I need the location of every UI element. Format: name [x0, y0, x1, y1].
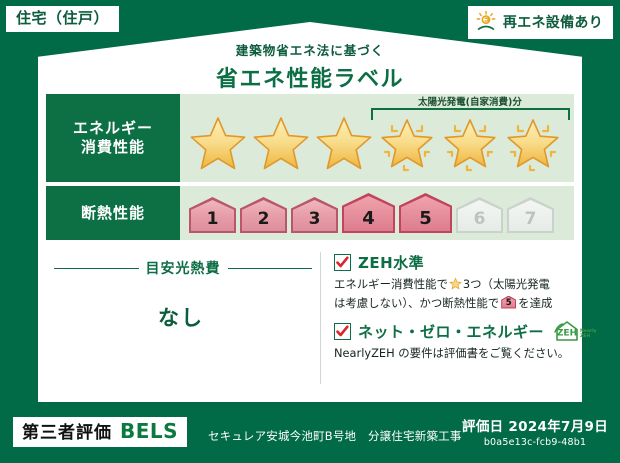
insulation-level-6: 6: [456, 197, 503, 233]
energy-label-root: 住宅（住戸） 再エネ設備あり 建築物省エネ法に基づく 省エネ性能ラベル: [0, 0, 620, 463]
star-icon-1: [187, 112, 249, 174]
zeh-house-logo-icon: ZEH Nearly ZEH: [554, 320, 600, 342]
bels-third-party-tag: 第三者評価 BELS: [13, 417, 187, 447]
energy-label-line2: 消費性能: [81, 138, 145, 157]
zeh-desc-part2: 3つ（太陽光発電: [463, 277, 550, 291]
renewable-badge-label: 再エネ設備あり: [503, 16, 603, 30]
net-zero-energy-description: NearlyZEH の要件は評価書をご覧ください。: [334, 345, 574, 362]
utility-cost-value: なし: [46, 302, 316, 332]
star-icon-2: [250, 112, 312, 174]
net-zero-energy-checkbox[interactable]: [334, 323, 351, 340]
evaluation-id: b0a5e13c-fcb9-48b1: [462, 437, 608, 448]
zeh-standard-header: ZEH水準: [334, 252, 574, 273]
sun-icon: [475, 10, 497, 35]
star-icon-4-solar: [376, 112, 438, 174]
zeh-desc-part3: は考慮しない）、かつ断熱性能で: [334, 296, 499, 310]
zeh-criteria-column: ZEH水準 エネルギー消費性能で 3つ（太陽光発電は考慮しない）、かつ断熱性能で…: [334, 252, 574, 371]
svg-text:ZEH: ZEH: [557, 329, 577, 339]
label-lower-section: 目安光熱費 なし ZEH水準: [46, 250, 574, 394]
renewable-equipment-badge: 再エネ設備あり: [468, 6, 613, 39]
svg-text:ZEH: ZEH: [580, 333, 590, 339]
solar-generation-note: 太陽光発電(自家消費)分: [352, 94, 588, 108]
insulation-level-1: 1: [189, 197, 236, 233]
bels-tag-jp: 第三者評価: [22, 425, 112, 442]
star-icon-inline: [449, 277, 462, 295]
zeh-desc-part4: を達成: [518, 296, 552, 310]
energy-performance-row: エネルギー 消費性能 太陽光発電(自家消費)分: [46, 94, 574, 182]
utility-cost-heading-text: 目安光熱費: [146, 258, 221, 278]
zeh-desc-part1: エネルギー消費性能で: [334, 277, 448, 291]
insulation-level-group: 1 2 3 4 5: [180, 193, 554, 233]
star-icon-5-solar: [439, 112, 501, 174]
net-zero-energy-header: ネット・ゼロ・エネルギー ZEH Nearly ZEH: [334, 320, 574, 342]
insulation-level-4: 4: [342, 193, 395, 233]
star-icon-6-solar: [502, 112, 564, 174]
vertical-divider: [320, 252, 321, 384]
label-main-panel: エネルギー 消費性能 太陽光発電(自家消費)分: [46, 94, 574, 394]
insulation-performance-row: 断熱性能 1 2 3: [46, 186, 574, 240]
label-footer: 第三者評価 BELS セキュレア安城今池町B号地 分譲住宅新築工事 評価日 20…: [0, 408, 620, 463]
insulation-level-7: 7: [507, 197, 554, 233]
energy-performance-label: エネルギー 消費性能: [46, 94, 180, 182]
insulation-level-2: 2: [240, 197, 287, 233]
bels-tag-en: BELS: [120, 421, 178, 441]
evaluation-date: 評価日 2024年7月9日: [462, 415, 608, 435]
insulation-performance-value: 1 2 3 4 5: [180, 186, 574, 240]
zeh-standard-description: エネルギー消費性能で 3つ（太陽光発電は考慮しない）、かつ断熱性能で 5を達成: [334, 276, 574, 311]
check-icon: [336, 325, 349, 338]
zeh-standard-title: ZEH水準: [358, 252, 424, 273]
net-zero-energy-title: ネット・ゼロ・エネルギー: [358, 321, 544, 342]
insulation-level-inline-num: 5: [501, 296, 516, 309]
check-icon: [336, 256, 349, 269]
insulation-level-inline: 5: [501, 296, 516, 309]
star-rating-group: [180, 112, 564, 174]
evaluation-info: 評価日 2024年7月9日 b0a5e13c-fcb9-48b1: [462, 415, 608, 448]
energy-performance-value: 太陽光発電(自家消費)分: [180, 94, 574, 182]
heading-rule-left: [54, 268, 139, 269]
insulation-performance-label: 断熱性能: [46, 186, 180, 240]
heading-rule-right: [228, 268, 313, 269]
insulation-level-5: 5: [399, 193, 452, 233]
zeh-standard-block: ZEH水準 エネルギー消費性能で 3つ（太陽光発電は考慮しない）、かつ断熱性能で…: [334, 252, 574, 311]
insulation-level-3: 3: [291, 197, 338, 233]
zeh-standard-checkbox[interactable]: [334, 254, 351, 271]
energy-label-line1: エネルギー: [73, 119, 153, 138]
house-type-tag: 住宅（住戸）: [6, 6, 119, 32]
utility-cost-heading: 目安光熱費: [54, 258, 312, 278]
project-name: セキュレア安城今池町B号地 分譲住宅新築工事: [208, 428, 462, 444]
net-zero-energy-block: ネット・ゼロ・エネルギー ZEH Nearly ZEH NearlyZEH の要…: [334, 320, 574, 362]
star-icon-3: [313, 112, 375, 174]
